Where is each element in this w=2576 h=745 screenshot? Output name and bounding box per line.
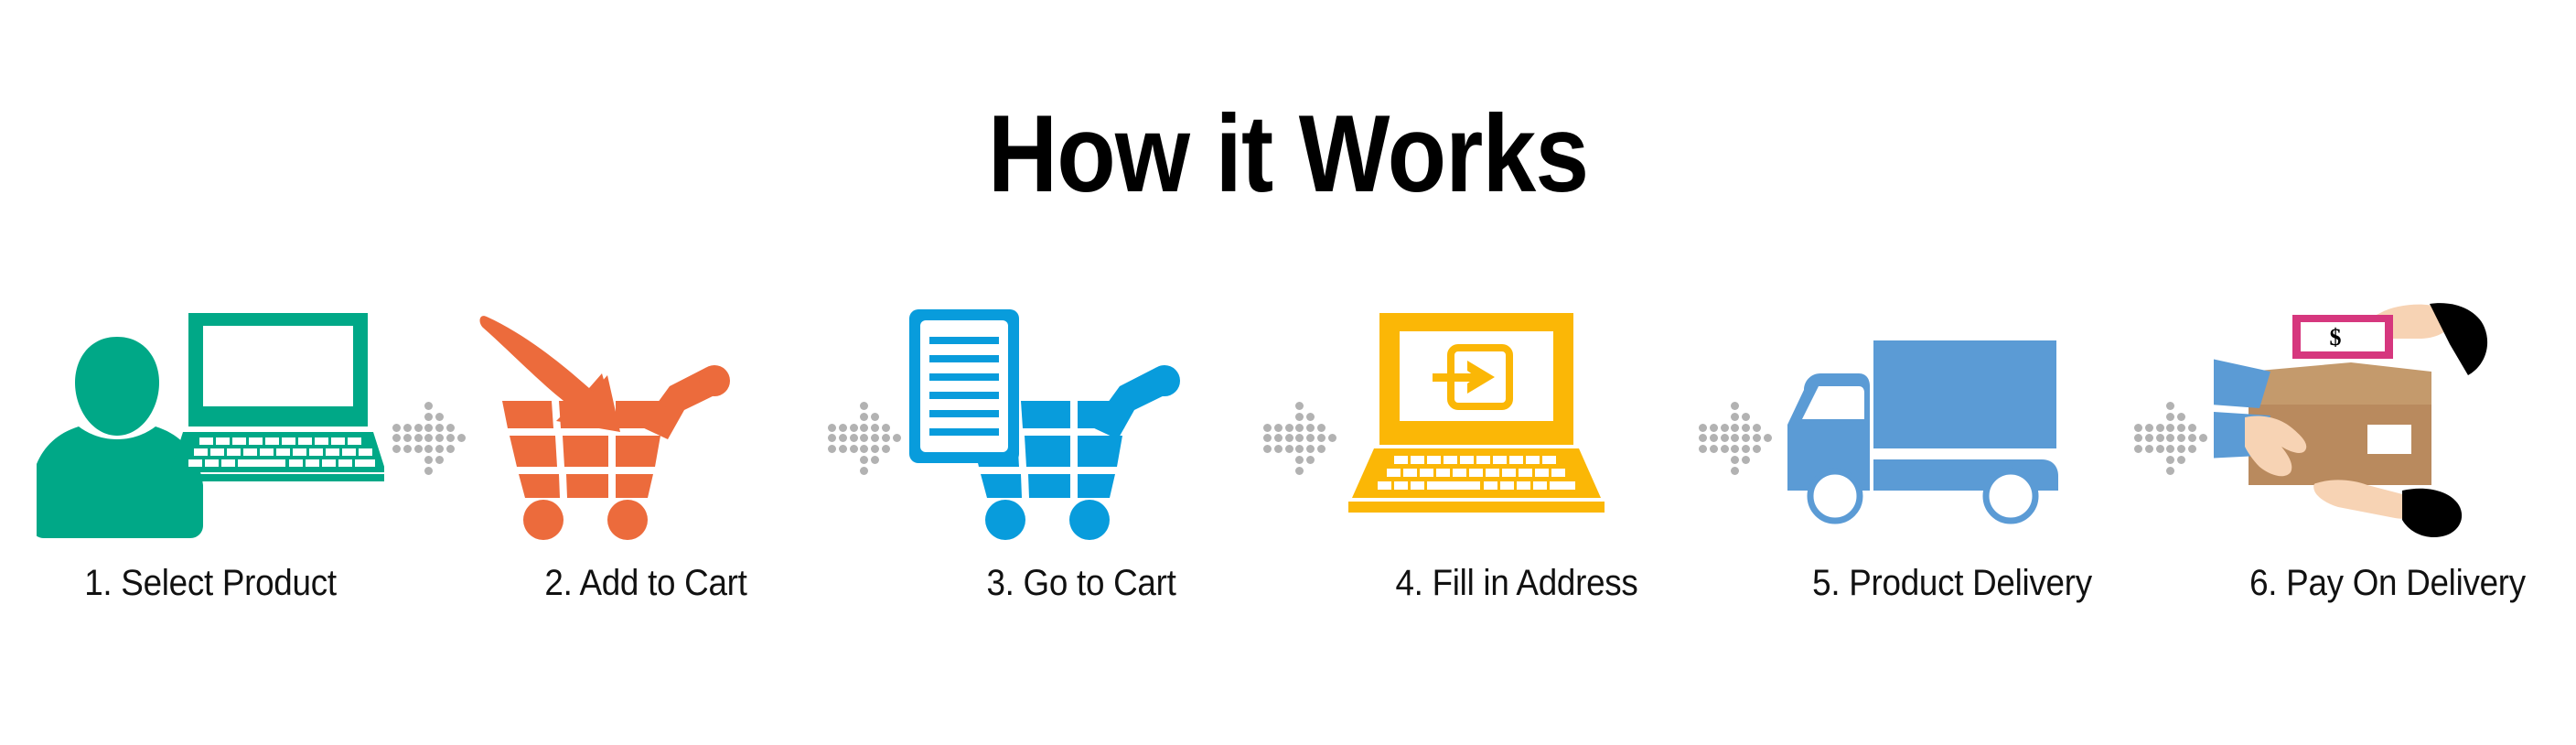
how-it-works-flow: 1. Select Product <box>37 302 2543 668</box>
hands-exchanging-box-and-money-icon: $ <box>2214 302 2561 549</box>
person-at-laptop-icon <box>37 302 384 549</box>
step-5-label: 5. Product Delivery <box>1792 563 2112 604</box>
svg-text:$: $ <box>2330 324 2342 351</box>
dotted-right-arrow-icon <box>2126 302 2214 668</box>
step-1-label: 1. Select Product <box>50 563 370 604</box>
laptop-with-login-arrow-icon <box>1343 302 1690 549</box>
dotted-right-arrow-icon <box>820 302 907 668</box>
step-6-label: 6. Pay On Delivery <box>2227 563 2548 604</box>
dotted-right-arrow-icon <box>384 302 472 668</box>
step-6-pay-on-delivery: $ 6. Pay On Delivery <box>2214 302 2561 668</box>
step-2-label: 2. Add to Cart <box>486 563 806 604</box>
shopping-cart-with-arrow-icon <box>472 302 820 549</box>
step-4-fill-in-address: 4. Fill in Address <box>1343 302 1690 668</box>
document-and-cart-icon <box>907 302 1255 549</box>
dotted-right-arrow-icon <box>1255 302 1343 668</box>
dotted-right-arrow-icon <box>1690 302 1778 668</box>
step-2-add-to-cart: 2. Add to Cart <box>472 302 820 668</box>
page-title: How it Works <box>155 99 2421 209</box>
step-1-select-product: 1. Select Product <box>37 302 384 668</box>
step-5-product-delivery: 5. Product Delivery <box>1778 302 2126 668</box>
step-4-label: 4. Fill in Address <box>1357 563 1677 604</box>
step-3-go-to-cart: 3. Go to Cart <box>907 302 1255 668</box>
delivery-truck-icon <box>1778 302 2126 549</box>
step-3-label: 3. Go to Cart <box>921 563 1241 604</box>
